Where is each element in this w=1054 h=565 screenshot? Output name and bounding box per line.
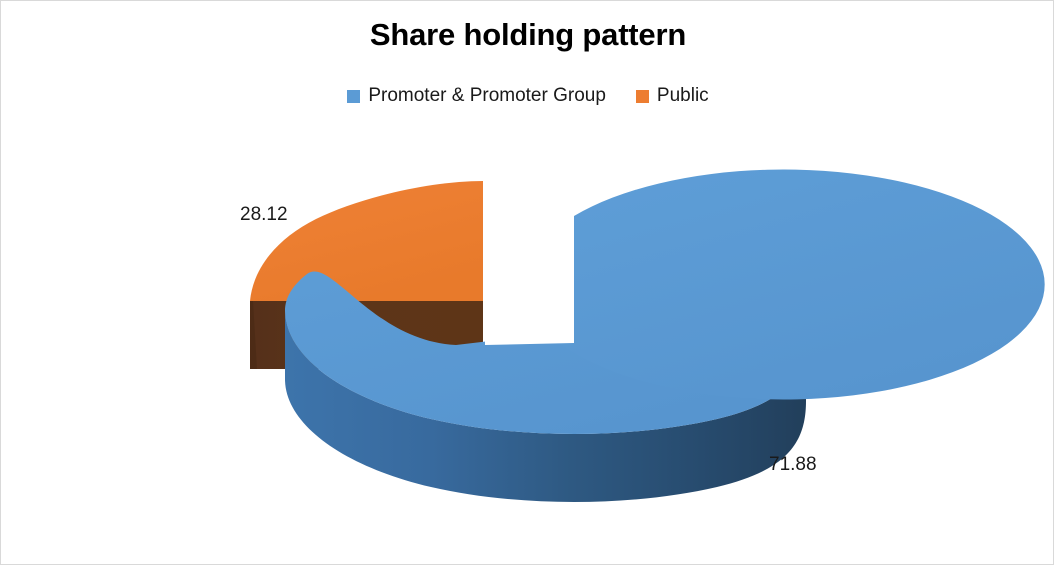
pie-chart-plot bbox=[1, 1, 1054, 565]
data-label-promoter: 71.88 bbox=[769, 454, 817, 476]
pie-explosion-gap bbox=[485, 171, 574, 345]
pie-slice-public-3d-top bbox=[250, 181, 483, 301]
data-label-public: 28.12 bbox=[240, 204, 288, 226]
chart-container: Share holding pattern Promoter & Promote… bbox=[0, 0, 1054, 565]
